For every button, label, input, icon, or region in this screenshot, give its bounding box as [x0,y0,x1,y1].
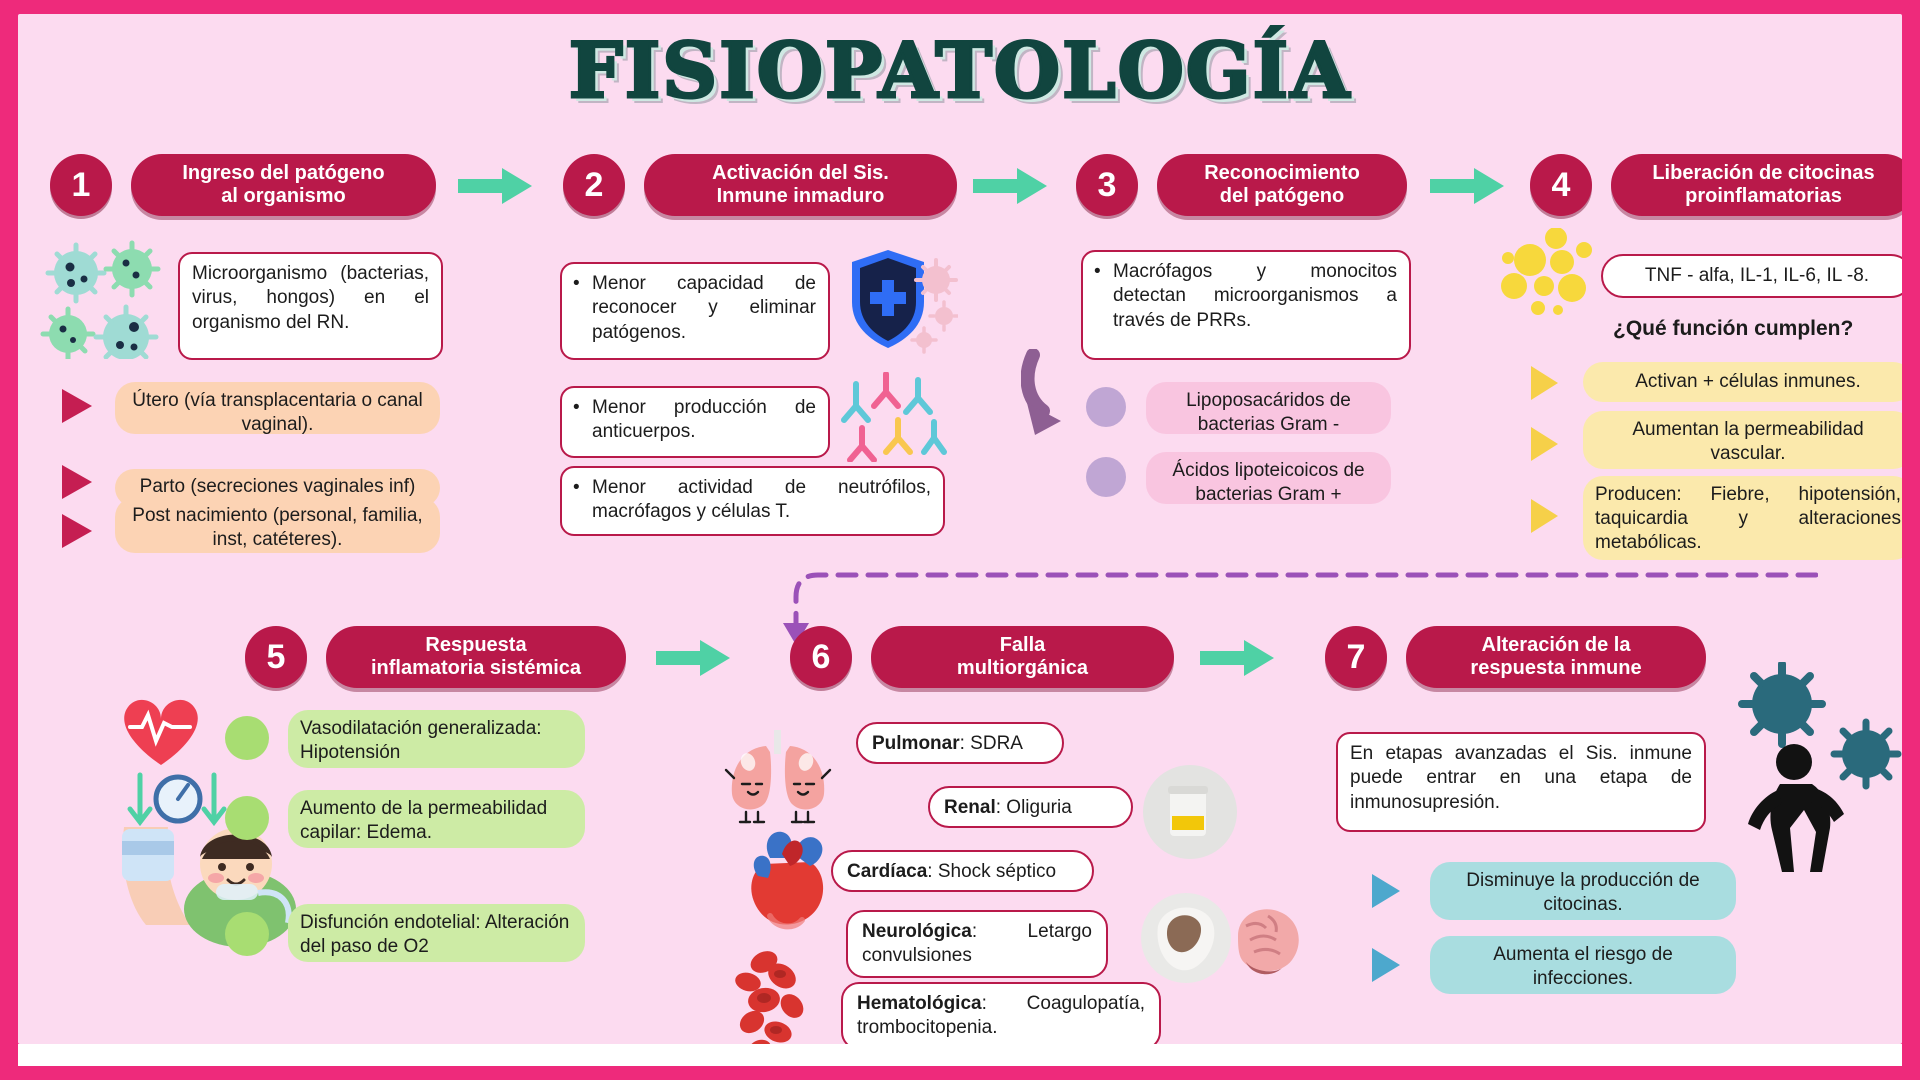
step-5-dot-3 [225,912,269,956]
step-7-marker-2 [1372,948,1400,982]
antibody-cluster-icon [840,372,955,462]
step-6-header-line1: Falla [1000,634,1046,656]
bullet-dot-icon: • [573,476,580,500]
step-4-main-box: TNF - alfa, IL-1, IL-6, IL -8. [1601,254,1902,298]
bullet-dot-icon: • [573,396,580,420]
step-7-chip-1: Disminuye la producción de citocinas. [1430,862,1736,920]
step-5-header-line2: inflamatoria sistémica [371,657,581,679]
neuro-photos [1140,892,1305,984]
step-6-item-2-label: Renal [944,797,996,818]
step-4-chip-1: Activan + células inmunes. [1583,362,1902,402]
step-3-header-line2: del patógeno [1220,185,1344,207]
step-5-dot-1 [225,716,269,760]
step-5-chip-1: Vasodilatación generalizada: Hipotensión [288,710,585,768]
step-2-number: 2 [563,154,625,216]
step-6-item-2: Renal: Oliguria [928,786,1133,828]
step-4-chip-2: Aumentan la permeabilidad vascular. [1583,411,1902,469]
infographic-canvas: FISIOPATOLOGÍA 1 Ingreso del patógeno al… [0,0,1920,1080]
step-1-chip-3: Post nacimiento (personal, familia, inst… [115,497,440,553]
step-6-item-5: Hematológica: Coagulopatía, trombocitope… [841,982,1161,1044]
step-5-chip-2: Aumento de la permeabilidad capilar: Ede… [288,790,585,848]
step-1-number: 1 [50,154,112,216]
step-6-item-4-label: Neurológica [862,921,972,942]
lungs-icon [718,726,838,826]
step-3-header: Reconocimiento del patógeno [1157,154,1407,216]
step-4-marker-3 [1531,499,1558,533]
blood-cells-icon [730,944,840,1044]
step-7-marker-1 [1372,874,1400,908]
step-1-marker-3 [62,514,92,548]
step-7-header-line2: respuesta inmune [1470,657,1641,679]
step-5-header-line1: Respuesta [425,634,526,656]
step-4-marker-2 [1531,427,1558,461]
step-6-item-1: Pulmonar: SDRA [856,722,1064,764]
virus-cluster-icon [40,239,180,359]
step-6-item-2-value: : Oliguria [996,797,1072,818]
immune-shield-icon [848,244,958,359]
step-2-bullet-3: Menor actividad de neutrófilos, macrófag… [592,477,931,522]
step-4-number: 4 [1530,154,1592,216]
step-1-marker-2 [62,465,92,499]
step-3-bullet-1: Macrófagos y monocitos detectan microorg… [1113,261,1397,331]
step-6-item-3: Cardíaca: Shock séptico [831,850,1094,892]
step-3-bullet-box-1: • Macrófagos y monocitos detectan microo… [1081,250,1411,360]
step-5-dot-2 [225,796,269,840]
step-3-chip-1: Lipoposacáridos de bacterias Gram - [1146,382,1391,434]
step-2-bullet-box-2: • Menor producción de anticuerpos. [560,386,830,458]
step-4-chip-3: Producen: Fiebre, hipotensión, taquicard… [1583,476,1902,560]
sick-person-virus-icon [1738,662,1902,877]
step-1-chip-1: Útero (vía transplacentaria o canal vagi… [115,382,440,434]
blood-pressure-baby-icon [116,679,316,949]
step-6-header: Falla multiorgánica [871,626,1174,688]
step-1-main-box: Microorganismo (bacterias, virus, hongos… [178,252,443,360]
step-4-header-line1: Liberación de citocinas [1652,162,1874,184]
step-3-header-line1: Reconocimiento [1204,162,1360,184]
anatomical-heart-icon [740,824,840,934]
step-6-item-3-label: Cardíaca [847,861,927,882]
step-4-marker-1 [1531,366,1558,400]
step-1-header-line2: al organismo [221,185,345,207]
step-2-header: Activación del Sis. Inmune inmaduro [644,154,957,216]
step-7-number: 7 [1325,626,1387,688]
step-1-marker-1 [62,389,92,423]
step-6-item-1-value: : SDRA [960,733,1023,754]
step-4-header: Liberación de citocinas proinflamatorias [1611,154,1902,216]
urine-sample-photo [1142,764,1238,860]
arrow-step6-to-step7 [1200,638,1275,678]
step-6-item-5-label: Hematológica [857,993,982,1014]
step-6-header-line2: multiorgánica [957,657,1088,679]
arrow-step5-to-step6 [656,638,731,678]
step-7-header: Alteración de la respuesta inmune [1406,626,1706,688]
cytokine-bubbles-icon [1500,228,1600,328]
bottom-strip [18,1044,1902,1066]
page-title: FISIOPATOLOGÍA [18,26,1902,115]
step-2-bullet-box-1: • Menor capacidad de reconocer y elimina… [560,262,830,360]
step-3-chip-2: Ácidos lipoteicoicos de bacterias Gram + [1146,452,1391,504]
arrow-step1-to-step2 [458,166,533,206]
step-2-bullet-2: Menor producción de anticuerpos. [592,397,816,442]
step-4-question: ¿Qué función cumplen? [1613,317,1853,341]
step-1-header-line1: Ingreso del patógeno [182,162,384,184]
step-1-header: Ingreso del patógeno al organismo [131,154,436,216]
arrow-step2-to-step3 [973,166,1048,206]
step-4-header-line2: proinflamatorias [1685,185,1842,207]
step-6-item-1-label: Pulmonar [872,733,960,754]
step-7-header-line1: Alteración de la [1482,634,1631,656]
step-2-bullet-1: Menor capacidad de reconocer y eliminar … [592,273,816,343]
step-6-item-3-value: : Shock séptico [927,861,1056,882]
step-6-item-4: Neurológica: Letargo convulsiones [846,910,1108,978]
step-7-chip-2: Aumenta el riesgo de infecciones. [1430,936,1736,994]
bullet-dot-icon: • [1094,260,1101,284]
step-3-dot-2 [1086,457,1126,497]
bullet-dot-icon: • [573,272,580,296]
step-2-bullet-box-3: • Menor actividad de neutrófilos, macróf… [560,466,945,536]
step-2-header-line2: Inmune inmaduro [717,185,885,207]
step-2-header-line1: Activación del Sis. [712,162,889,184]
step-3-number: 3 [1076,154,1138,216]
step-7-main-box: En etapas avanzadas el Sis. inmune puede… [1336,732,1706,832]
infographic-page: FISIOPATOLOGÍA 1 Ingreso del patógeno al… [18,14,1902,1044]
arrow-step3-to-step4 [1430,166,1505,206]
step-6-number: 6 [790,626,852,688]
step-5-header: Respuesta inflamatoria sistémica [326,626,626,688]
step-5-chip-3: Disfunción endotelial: Alteración del pa… [288,904,585,962]
step-3-dot-1 [1086,387,1126,427]
